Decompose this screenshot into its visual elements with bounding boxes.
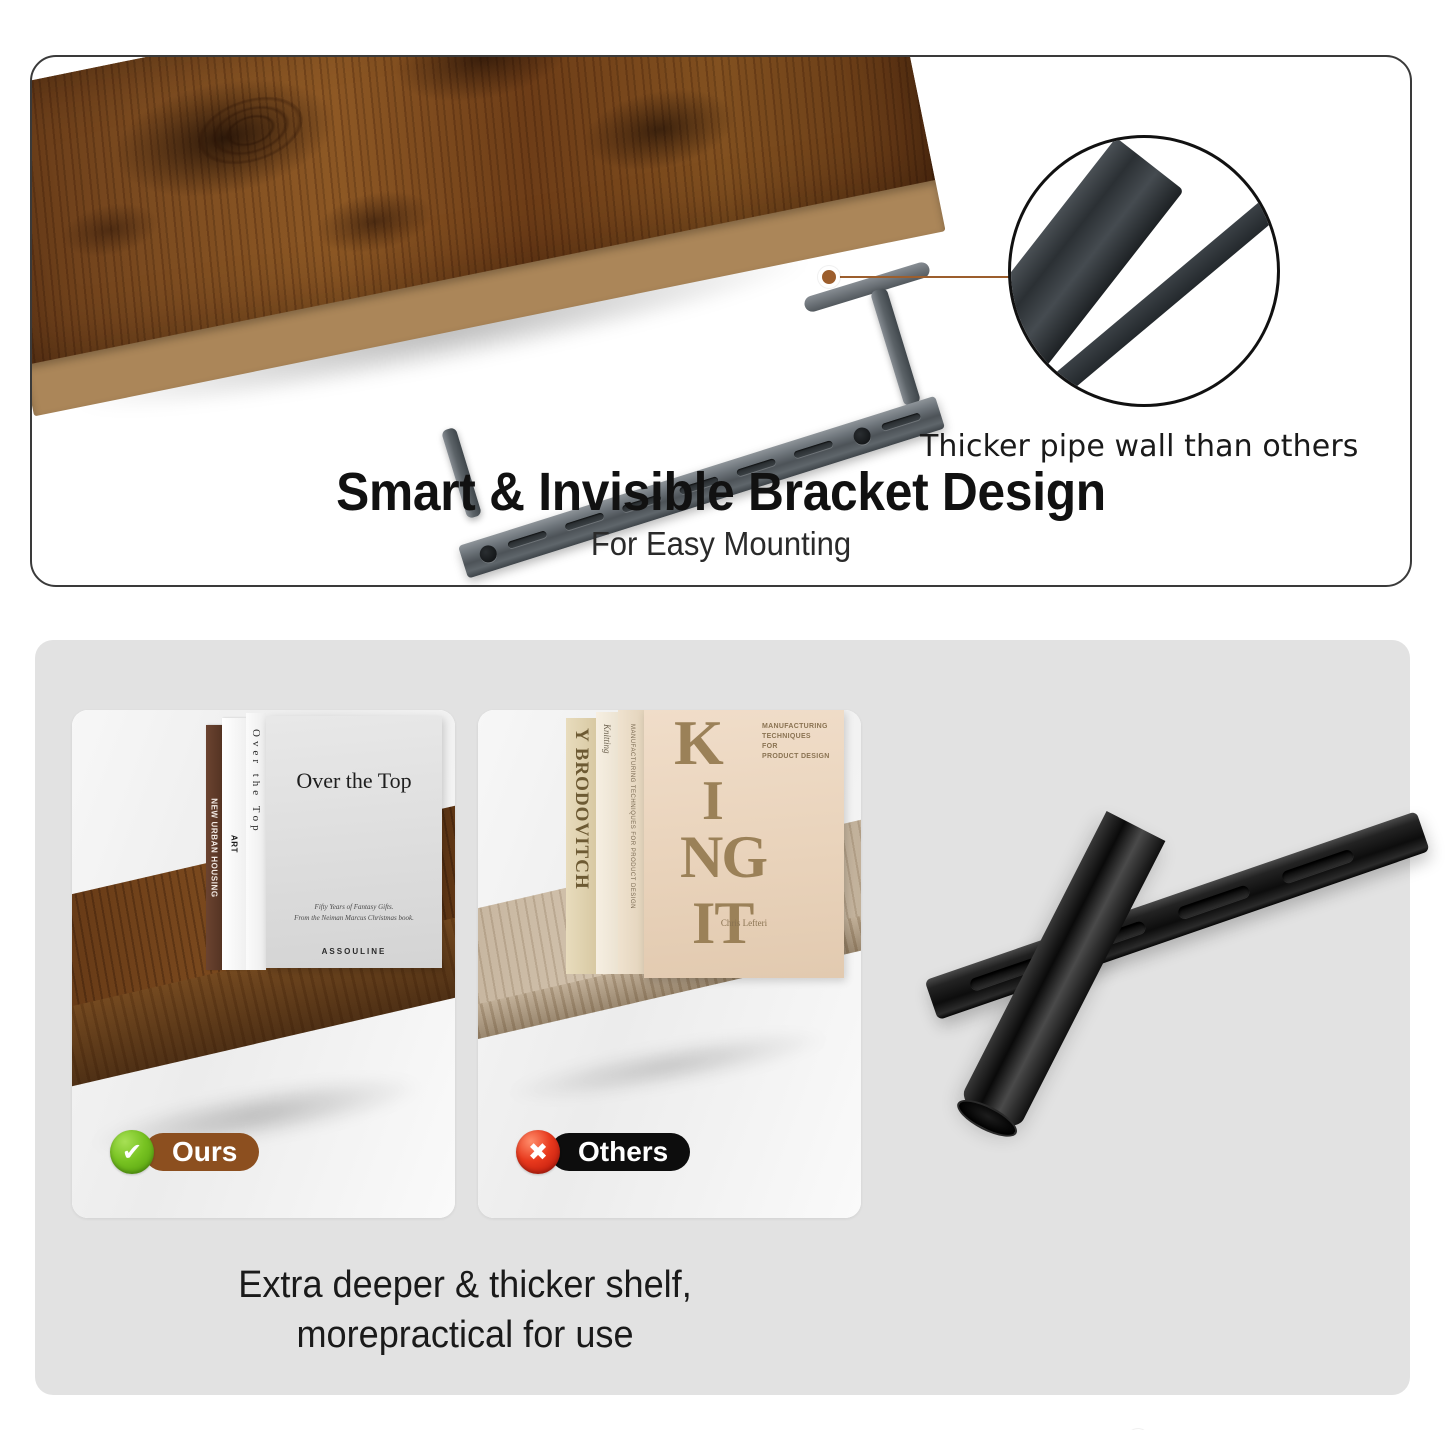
bracket-slot <box>1177 884 1251 919</box>
wood-knot <box>190 85 312 177</box>
book-cover-subtitle: Fifty Years of Fantasy Gifts. From the N… <box>266 902 442 923</box>
book-cover-over-the-top: Over the Top Fifty Years of Fantasy Gift… <box>266 716 442 968</box>
book-cover-word: K <box>674 714 724 773</box>
badge-ours-label: Ours <box>144 1133 259 1171</box>
badge-ours: ✔ Ours <box>110 1130 259 1174</box>
infographic-page: Thicker pipe wall than others Smart & In… <box>0 0 1445 1430</box>
badge-others-label: Others <box>550 1133 690 1171</box>
book-cover-author: Chris Lefteri <box>644 918 844 928</box>
book-spine: NEW URBAN HOUSING <box>206 725 222 970</box>
comparison-card-others: Y BRODOVITCH Knitting MANUFACTURING TECH… <box>478 710 861 1218</box>
cross-icon: ✖ <box>516 1130 560 1174</box>
comparison-card-ours: NEW URBAN HOUSING ART Over the Top Over … <box>72 710 455 1218</box>
bottom-comparison-panel: NEW URBAN HOUSING ART Over the Top Over … <box>35 640 1410 1395</box>
bracket-slot <box>881 412 921 431</box>
book-spine: ART <box>222 718 246 970</box>
book-cover-meta: MANUFACTURING TECHNIQUES FOR PRODUCT DES… <box>762 722 838 763</box>
book-cover-king-it: MANUFACTURING TECHNIQUES FOR PRODUCT DES… <box>644 710 844 978</box>
top-subheadline: For Easy Mounting <box>73 525 1368 563</box>
magnifier-detail-circle <box>1008 135 1280 407</box>
badge-others: ✖ Others <box>516 1130 690 1174</box>
book-cover-word: I <box>702 776 724 828</box>
black-t-bracket-illustration <box>875 640 1410 1280</box>
callout-leader-line <box>832 276 1012 278</box>
book-cover-brand: ASSOULINE <box>266 947 442 956</box>
top-feature-panel: Thicker pipe wall than others Smart & In… <box>30 55 1412 587</box>
book-spine: MANUFACTURING TECHNIQUES FOR PRODUCT DES… <box>618 710 644 974</box>
book-cover-word: NG <box>680 830 766 885</box>
check-icon: ✔ <box>110 1130 154 1174</box>
bracket-flat-arm <box>924 811 1429 1020</box>
pipe-end-cap <box>952 1093 1022 1144</box>
board-left-edge <box>30 175 31 381</box>
bracket-slot <box>1281 848 1355 883</box>
book-spine: Knitting <box>596 712 618 974</box>
top-headline: Smart & Invisible Bracket Design <box>87 461 1355 523</box>
callout-dot-marker <box>818 266 840 288</box>
book-spine: Y BRODOVITCH <box>566 718 596 974</box>
comparison-caption: Extra deeper & thicker shelf, morepracti… <box>85 1260 845 1360</box>
bracket-stem-right <box>870 287 921 407</box>
book-spine: Over the Top <box>246 713 266 970</box>
callout-thicker-pipe-label: Thicker pipe wall than others <box>920 429 1359 464</box>
bracket-hole <box>851 425 872 446</box>
bracket-slot <box>793 440 833 459</box>
book-cover-title: Over the Top <box>266 768 442 794</box>
